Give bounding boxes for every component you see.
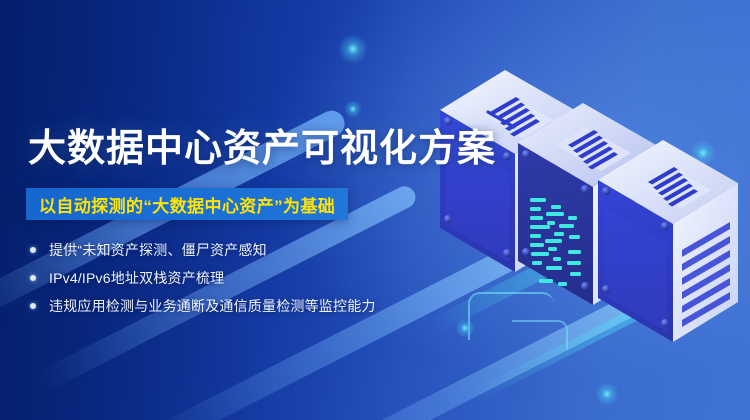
text-content: 大数据中心资产可视化方案 以自动探测的“大数据中心资产”为基础 提供“未知资产探… <box>0 0 470 420</box>
bullet-dot-icon <box>30 303 36 309</box>
list-item: IPv4/IPv6地址双栈资产梳理 <box>30 264 450 292</box>
list-item-label: 违规应用检测与业务通断及通信质量检测等监控能力 <box>49 297 376 315</box>
bullet-dot-icon <box>30 247 36 253</box>
subtitle-banner-text: 以自动探测的“大数据中心资产”为基础 <box>39 192 335 217</box>
banner-image: 大数据中心资产可视化方案 以自动探测的“大数据中心资产”为基础 提供“未知资产探… <box>0 0 750 420</box>
list-item: 违规应用检测与业务通断及通信质量检测等监控能力 <box>30 292 450 320</box>
bullet-dot-icon <box>30 275 36 281</box>
list-item-label: IPv4/IPv6地址双栈资产梳理 <box>49 269 224 287</box>
list-item: 提供“未知资产探测、僵尸资产感知 <box>30 236 450 264</box>
feature-bullet-list: 提供“未知资产探测、僵尸资产感知 IPv4/IPv6地址双栈资产梳理 违规应用检… <box>30 236 450 320</box>
list-item-label: 提供“未知资产探测、僵尸资产感知 <box>49 241 267 259</box>
page-title: 大数据中心资产可视化方案 <box>28 126 496 172</box>
subtitle-banner: 以自动探测的“大数据中心资产”为基础 <box>26 188 348 220</box>
rack-right <box>598 140 738 342</box>
